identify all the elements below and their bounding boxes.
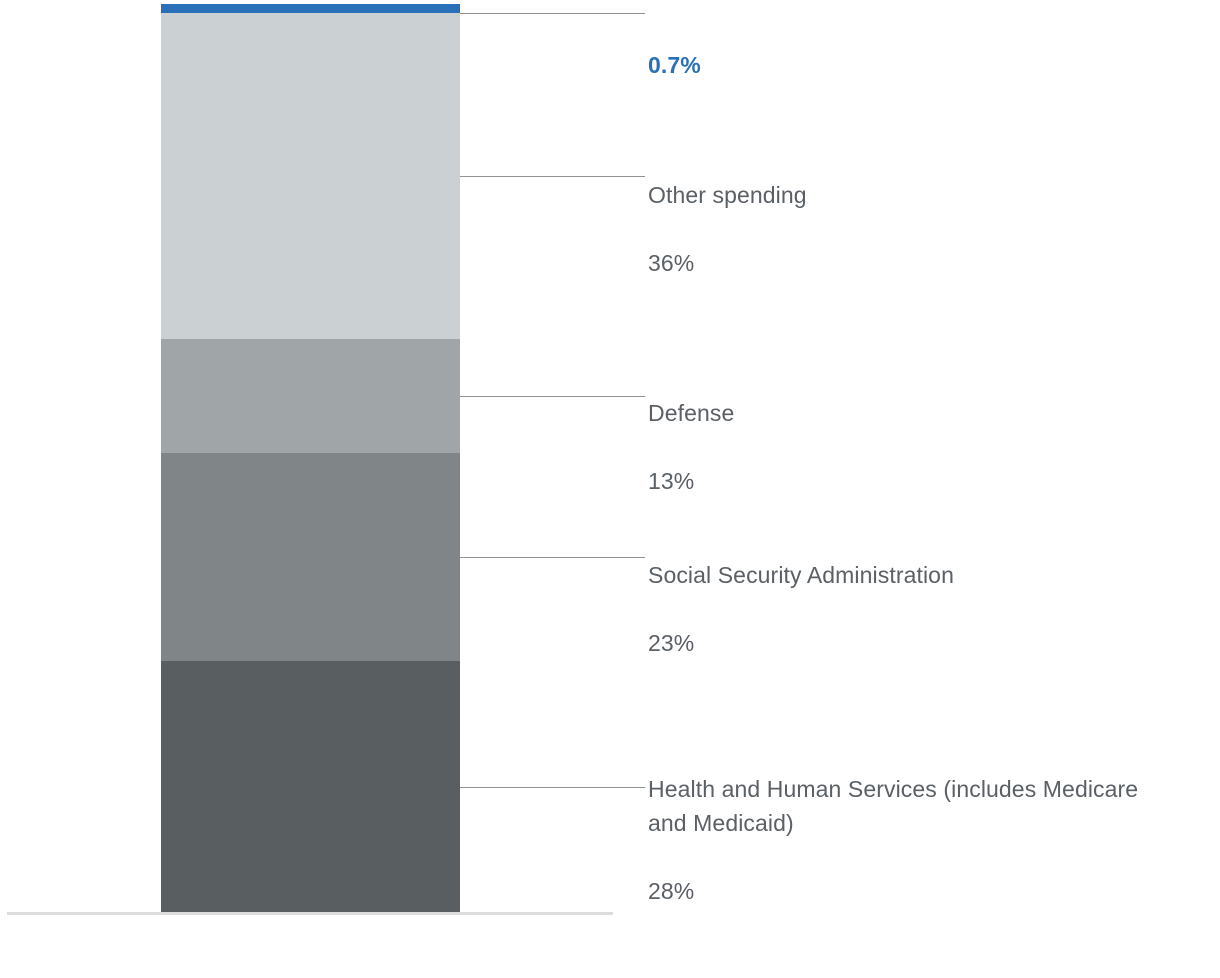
- callout-value-other-spending: 36%: [648, 246, 807, 280]
- axis-baseline: [7, 912, 613, 915]
- callout-top-highlight: 0.7%: [648, 14, 701, 116]
- callout-category-health-and-human-services: Health and Human Services (includes Medi…: [648, 772, 1138, 840]
- callout-value-social-security-administration: 23%: [648, 626, 954, 660]
- callout-value-health-and-human-services: 28%: [648, 874, 1138, 908]
- callout-other-spending: Other spending 36%: [648, 144, 807, 314]
- bar-segment-defense[interactable]: [161, 339, 460, 453]
- callout-health-and-human-services: Health and Human Services (includes Medi…: [648, 738, 1138, 942]
- stacked-bar: [161, 4, 460, 913]
- leader-line-health-and-human-services: [460, 787, 645, 788]
- callout-category-social-security-administration: Social Security Administration: [648, 558, 954, 592]
- callout-defense: Defense 13%: [648, 362, 734, 532]
- leader-line-top-highlight: [460, 13, 645, 14]
- bar-segment-social-security-administration[interactable]: [161, 453, 460, 661]
- callout-value-defense: 13%: [648, 464, 734, 498]
- callout-category-other-spending: Other spending: [648, 178, 807, 212]
- leader-line-other-spending: [460, 176, 645, 177]
- stacked-bar-chart: 0.7% Other spending 36% Defense 13% Soci…: [0, 0, 1220, 978]
- callout-social-security-administration: Social Security Administration 23%: [648, 524, 954, 694]
- callout-category-defense: Defense: [648, 396, 734, 430]
- bar-segment-other-spending[interactable]: [161, 13, 460, 339]
- callout-value-top-highlight: 0.7%: [648, 48, 701, 82]
- bar-segment-health-and-human-services[interactable]: [161, 661, 460, 913]
- leader-line-defense: [460, 396, 645, 397]
- leader-line-social-security-administration: [460, 557, 645, 558]
- bar-segment-top-highlight[interactable]: [161, 4, 460, 13]
